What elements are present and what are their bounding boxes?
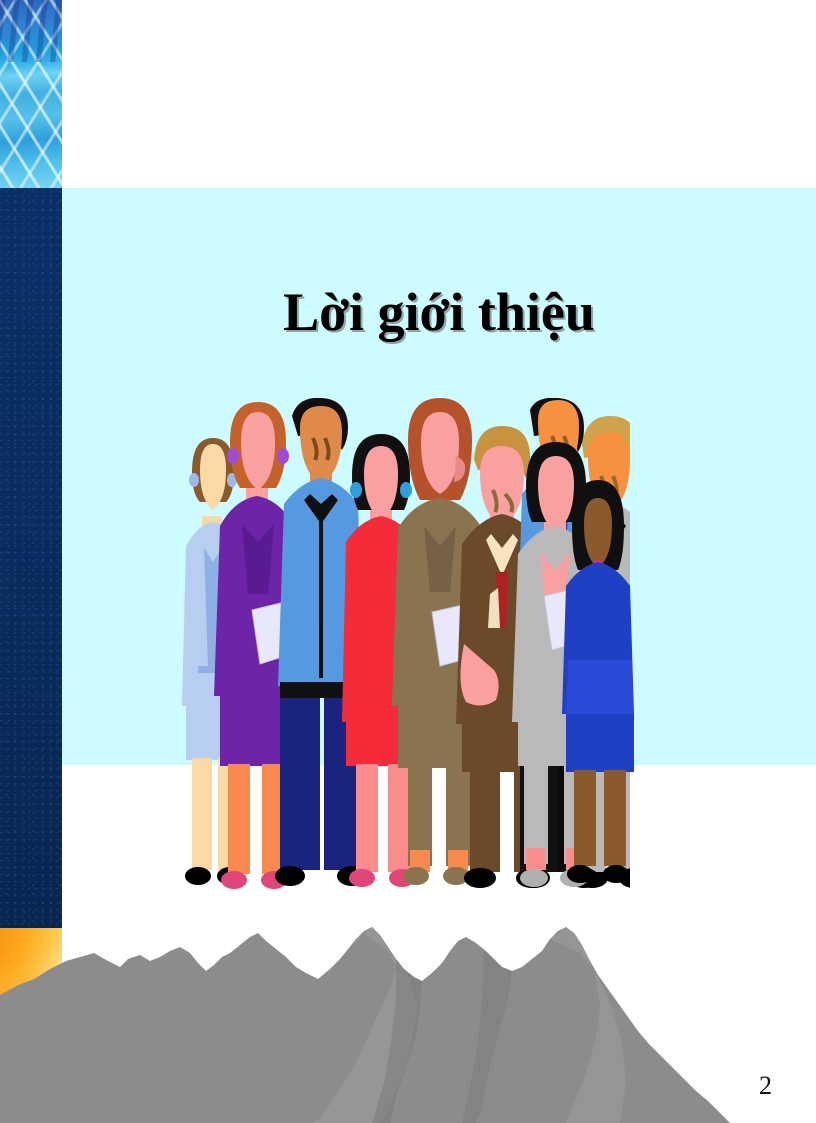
slide-canvas: Lời giới thiệu [0, 0, 816, 1123]
gray-mountain-silhouette [0, 923, 816, 1123]
page-title: Lời giới thiệu [62, 282, 816, 342]
page-number: 2 [759, 1071, 772, 1101]
people-right-svg [510, 430, 660, 930]
mesh-streaks [0, 0, 62, 62]
navy-vertical-bar [0, 188, 62, 928]
group-of-business-people-right [510, 430, 660, 930]
blue-mesh-texture-image [0, 0, 62, 188]
